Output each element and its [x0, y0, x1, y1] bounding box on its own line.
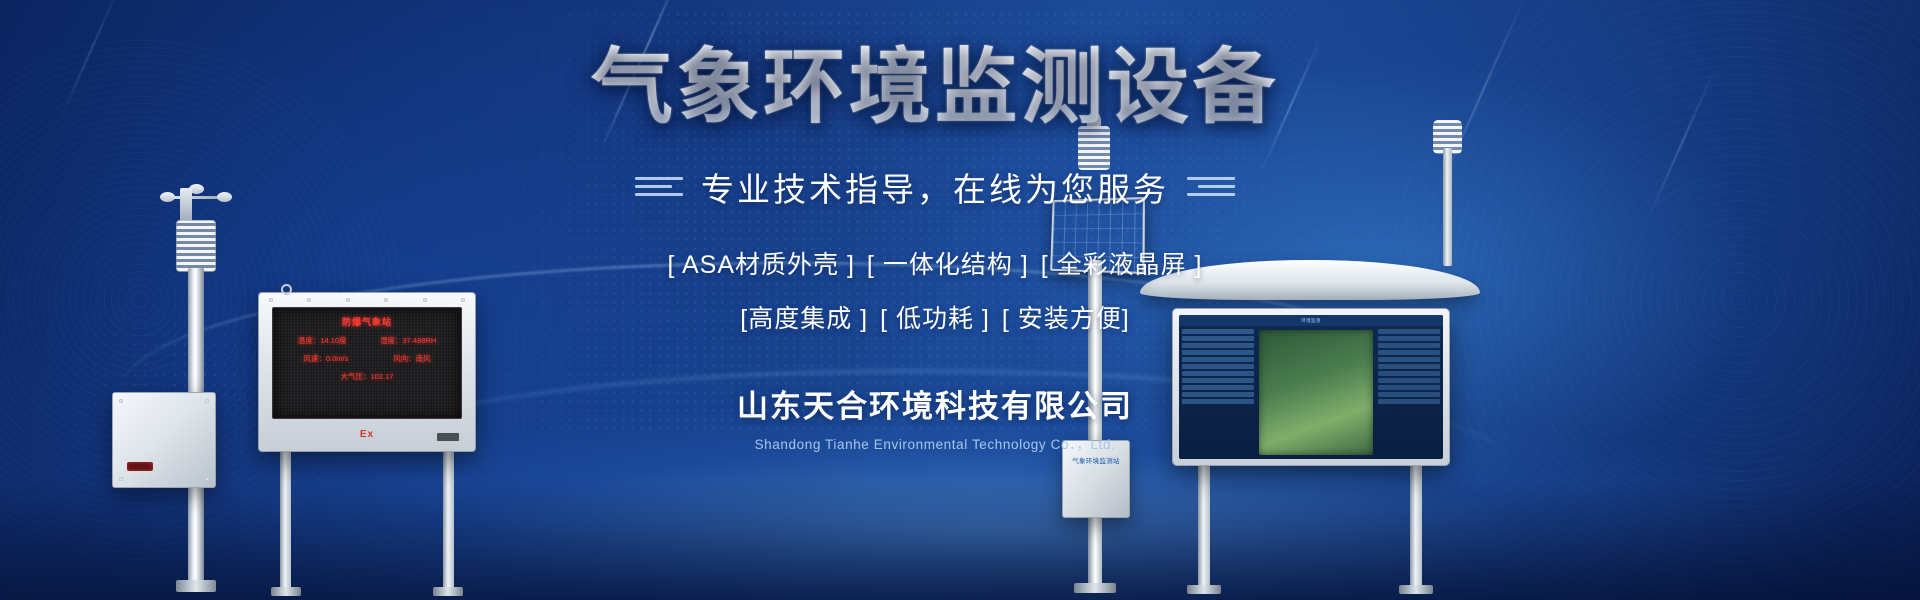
feature-tags-row-2: [高度集成 ] [ 低功耗 ] [ 安装方便] — [420, 299, 1450, 335]
feature-tag-low-power: [ 低功耗 ] — [880, 299, 990, 335]
page-title: 气象环境监测设备 — [420, 44, 1450, 133]
cabinet-foot-right — [433, 587, 463, 596]
company-block: 山东天合环境科技有限公司 Shandong Tianhe Environment… — [420, 381, 1450, 453]
feature-tag-full-color-lcd: [ 全彩液晶屏 ] — [1041, 245, 1203, 281]
solar-station-foot — [1074, 583, 1116, 593]
subtitle-text: 专业技术指导，在线为您服务 — [701, 163, 1169, 211]
company-name-en: Shandong Tianhe Environmental Technology… — [420, 433, 1450, 453]
kiosk-foot-right — [1399, 585, 1433, 594]
cabinet-leg-left — [280, 442, 291, 592]
solar-station-label: 气象环境监测站 — [1067, 457, 1125, 467]
mast-base — [176, 580, 216, 592]
subtitle-row: 专业技术指导，在线为您服务 — [420, 163, 1450, 211]
led-reading-temperature: 温度：14.10度 — [298, 335, 347, 346]
enclosure-indicator-led — [127, 462, 153, 471]
company-name-cn: 山东天合环境科技有限公司 — [420, 381, 1450, 426]
feature-tag-high-integration: [高度集成 ] — [740, 299, 868, 335]
banner-content: 气象环境监测设备 专业技术指导，在线为您服务 [ ASA材质外壳 ] [ 一体化… — [420, 44, 1450, 453]
cabinet-foot-left — [271, 587, 301, 596]
feature-tag-asa-shell: [ ASA材质外壳 ] — [667, 245, 854, 281]
feature-tags-row-1: [ ASA材质外壳 ] [ 一体化结构 ] [ 全彩液晶屏 ] — [420, 245, 1450, 281]
led-reading-pressure: 大气压：102.17 — [341, 371, 394, 382]
weather-station-mast — [150, 168, 242, 588]
cabinet-leg-right — [443, 442, 454, 592]
radiation-shield-sensor — [176, 220, 216, 272]
feature-tag-easy-install: [ 安装方便] — [1002, 299, 1130, 335]
feature-tag-integrated-structure: [ 一体化结构 ] — [867, 245, 1029, 281]
kiosk-leg-right — [1410, 460, 1422, 590]
control-enclosure-box — [112, 392, 216, 488]
wind-vane-icon — [180, 188, 192, 222]
explosion-proof-ex-mark: Ex — [360, 429, 374, 440]
led-reading-windspeed: 风速：0.0m/s — [303, 353, 348, 364]
decor-lines-right-icon — [1187, 177, 1235, 196]
banner-root: 防爆气象站 温度：14.10度 湿度：37.488RH 风速：0.0m/s 风向… — [0, 0, 1920, 600]
decor-lines-left-icon — [635, 177, 683, 196]
cabinet-hanging-ring-icon — [281, 284, 292, 295]
anemometer-icon — [160, 184, 232, 218]
